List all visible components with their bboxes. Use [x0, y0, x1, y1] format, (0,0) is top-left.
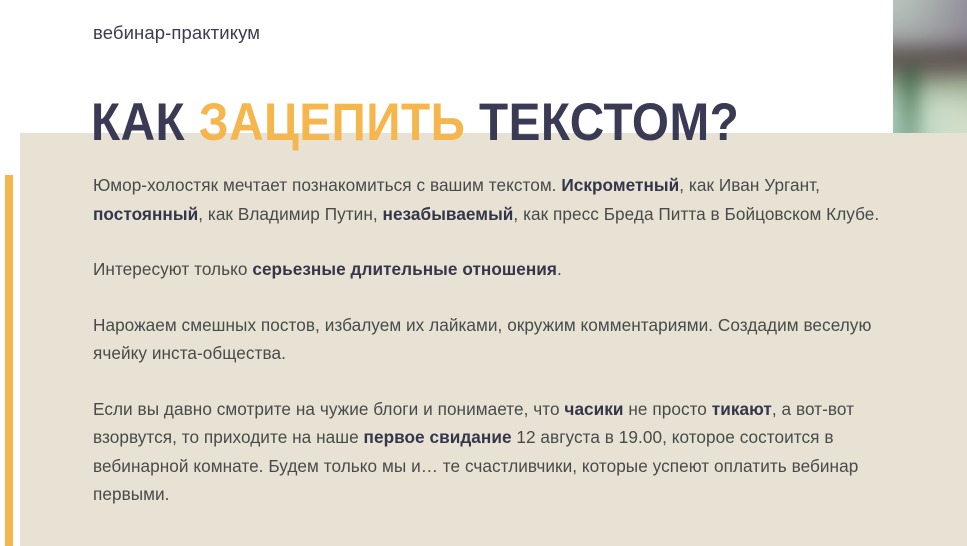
- photo-trunk-layer: [903, 67, 916, 134]
- body-text: Юмор-холостяк мечтает познакомиться с ва…: [93, 175, 561, 195]
- emphasis-text: первое свидание: [364, 427, 512, 447]
- body-text: .: [557, 259, 562, 279]
- body-text: Нарожаем смешных постов, избалуем их лай…: [93, 315, 871, 364]
- body-text: , как Владимир Путин,: [198, 204, 382, 224]
- body-text: , как пресс Бреда Питта в Бойцовском Клу…: [513, 204, 879, 224]
- emphasis-text: постоянный: [93, 204, 198, 224]
- emphasis-text: незабываемый: [383, 204, 514, 224]
- body-paragraph: Если вы давно смотрите на чужие блоги и …: [93, 395, 903, 509]
- hero-photo-image: [893, 0, 967, 133]
- webinar-landing-page: вебинар-практикум КАК ЗАЦЕПИТЬ ТЕКСТОМ? …: [0, 0, 967, 546]
- page-title-part-2: ТЕКСТОМ?: [465, 93, 739, 152]
- emphasis-text: тикают: [712, 399, 772, 419]
- emphasis-text: серьезные длительные отношения: [252, 259, 557, 279]
- page-title-accent-word: ЗАЦЕПИТЬ: [199, 93, 466, 152]
- page-title-part-1: КАК: [91, 93, 199, 152]
- body-text: Интересуют только: [93, 259, 252, 279]
- body-text: , как Иван Ургант,: [679, 175, 820, 195]
- body-text: не просто: [624, 399, 712, 419]
- body-copy: Юмор-холостяк мечтает познакомиться с ва…: [93, 171, 903, 509]
- page-header: вебинар-практикум КАК ЗАЦЕПИТЬ ТЕКСТОМ?: [0, 0, 967, 133]
- left-accent-bar: [5, 175, 13, 546]
- eyebrow-label: вебинар-практикум: [93, 21, 260, 45]
- photo-blur-layer: [893, 0, 967, 133]
- emphasis-text: часики: [564, 399, 623, 419]
- body-paragraph: Юмор-холостяк мечтает познакомиться с ва…: [93, 171, 903, 228]
- body-paragraph: Интересуют только серьезные длительные о…: [93, 255, 903, 284]
- body-paragraph: Нарожаем смешных постов, избалуем их лай…: [93, 311, 903, 368]
- page-title: КАК ЗАЦЕПИТЬ ТЕКСТОМ?: [91, 92, 739, 154]
- body-text: Если вы давно смотрите на чужие блоги и …: [93, 399, 564, 419]
- emphasis-text: Искрометный: [561, 175, 679, 195]
